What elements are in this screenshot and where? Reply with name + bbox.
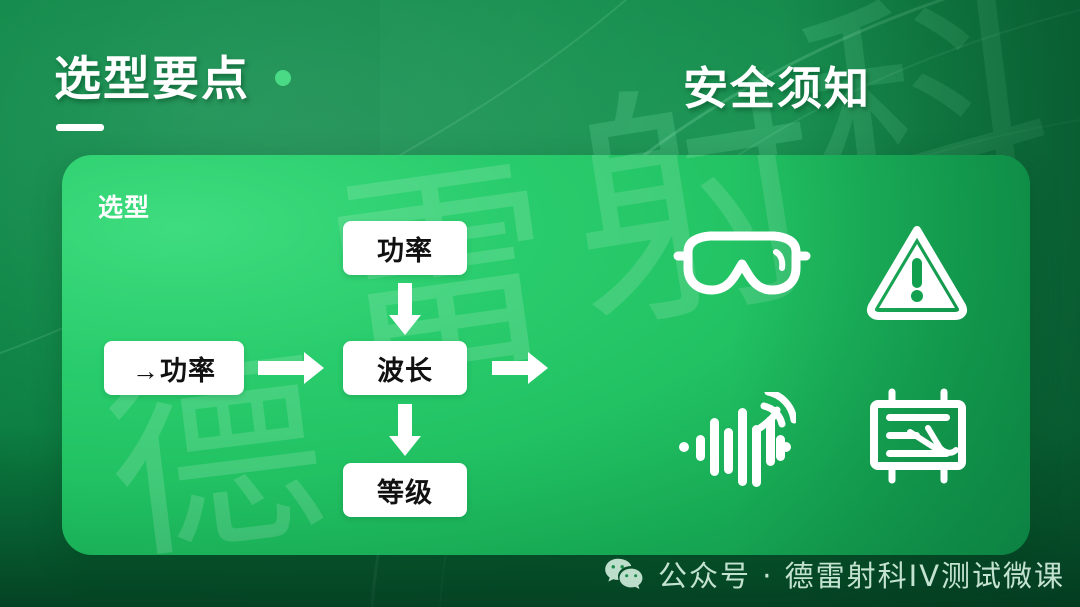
footer-text: 公众号 · 德雷射科IV测试微课 [658,553,1065,595]
footer-attribution: 公众号 · 德雷射科IV测试微课 [604,553,1065,595]
warning-triangle-icon [862,222,972,320]
safety-goggles-icon [668,228,816,314]
slide-root: 射 科 选型要点 安全须知 德 雷 射 选型 功率 →功率 波长 等级 [0,0,1080,607]
wechat-icon [604,557,644,591]
safety-icon-group [0,0,1080,607]
warning-signboard-icon [866,388,970,486]
radiation-wave-icon [676,392,796,490]
